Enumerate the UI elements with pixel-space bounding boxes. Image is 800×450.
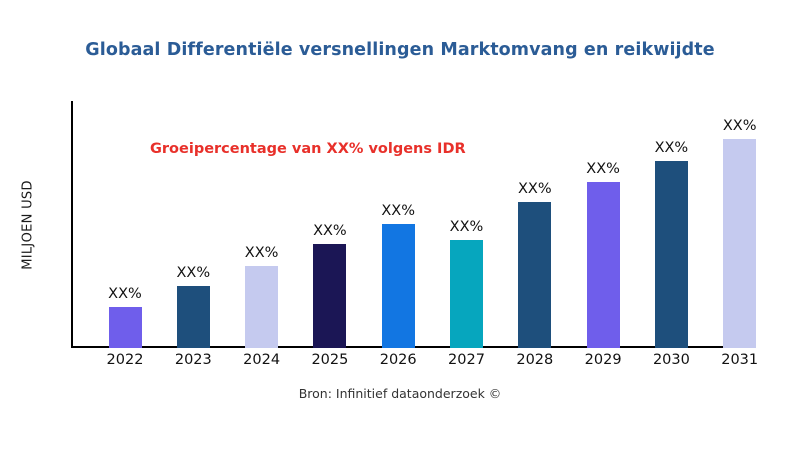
- x-axis-tick-2025: 2025: [300, 352, 360, 368]
- bar-value-label-2029: XX%: [586, 161, 620, 177]
- x-axis-tick-2030: 2030: [641, 352, 701, 368]
- bar-2023[interactable]: XX%: [177, 286, 210, 348]
- bar-value-label-2022: XX%: [108, 286, 142, 302]
- bar-value-label-2028: XX%: [518, 181, 552, 197]
- bar-2022[interactable]: XX%: [109, 307, 142, 349]
- growth-rate-annotation: Groeipercentage van XX% volgens IDR: [150, 141, 466, 157]
- bar-2026[interactable]: XX%: [382, 224, 415, 348]
- bar-2024[interactable]: XX%: [245, 266, 278, 348]
- x-axis-tick-2022: 2022: [95, 352, 155, 368]
- bar-value-label-2023: XX%: [176, 265, 210, 281]
- x-axis-tick-2027: 2027: [437, 352, 497, 368]
- bar-value-label-2031: XX%: [723, 118, 757, 134]
- x-axis-tick-2029: 2029: [573, 352, 633, 368]
- x-axis-tick-2024: 2024: [232, 352, 292, 368]
- source-caption: Bron: Infinitief dataonderzoek ©: [0, 386, 800, 401]
- chart-container: Globaal Differentiële versnellingen Mark…: [0, 0, 800, 450]
- x-axis-tick-2026: 2026: [368, 352, 428, 368]
- plot-area: XX%2022XX%2023XX%2024XX%2025XX%2026XX%20…: [0, 0, 800, 450]
- bar-2028[interactable]: XX%: [518, 202, 551, 348]
- x-axis-tick-2023: 2023: [163, 352, 223, 368]
- bar-value-label-2024: XX%: [245, 245, 279, 261]
- bar-2029[interactable]: XX%: [587, 182, 620, 348]
- bar-value-label-2030: XX%: [655, 140, 689, 156]
- bar-2031[interactable]: XX%: [723, 139, 756, 348]
- bar-2030[interactable]: XX%: [655, 161, 688, 348]
- x-axis-tick-2028: 2028: [505, 352, 565, 368]
- bar-value-label-2025: XX%: [313, 223, 347, 239]
- bar-value-label-2027: XX%: [450, 219, 484, 235]
- bar-value-label-2026: XX%: [381, 203, 415, 219]
- x-axis-tick-2031: 2031: [710, 352, 770, 368]
- bar-2027[interactable]: XX%: [450, 240, 483, 348]
- bar-2025[interactable]: XX%: [313, 244, 346, 348]
